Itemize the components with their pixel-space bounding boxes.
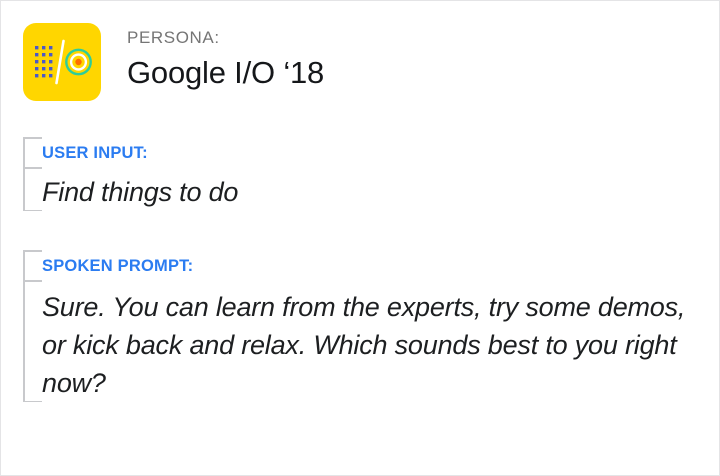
persona-label: PERSONA: [127, 27, 324, 49]
section-user-input: USER INPUT: Find things to do [23, 137, 699, 211]
section-spoken-prompt-body: SPOKEN PROMPT: Sure. You can learn from … [23, 250, 699, 402]
user-input-label: USER INPUT: [42, 137, 699, 163]
spoken-prompt-text: Sure. You can learn from the experts, tr… [42, 288, 699, 402]
persona-text-block: PERSONA: Google I/O ‘18 [127, 23, 324, 93]
persona-dialog-card: PERSONA: Google I/O ‘18 USER INPUT: Find… [0, 0, 720, 476]
spoken-prompt-label: SPOKEN PROMPT: [42, 250, 699, 276]
google-io-logo-tile [23, 23, 101, 101]
google-io-logo-icon [23, 23, 101, 101]
section-spoken-prompt: SPOKEN PROMPT: Sure. You can learn from … [23, 250, 699, 402]
persona-name: Google I/O ‘18 [127, 53, 324, 93]
user-input-text: Find things to do [42, 173, 697, 211]
section-user-input-body: USER INPUT: Find things to do [23, 137, 699, 211]
persona-header: PERSONA: Google I/O ‘18 [23, 23, 324, 101]
